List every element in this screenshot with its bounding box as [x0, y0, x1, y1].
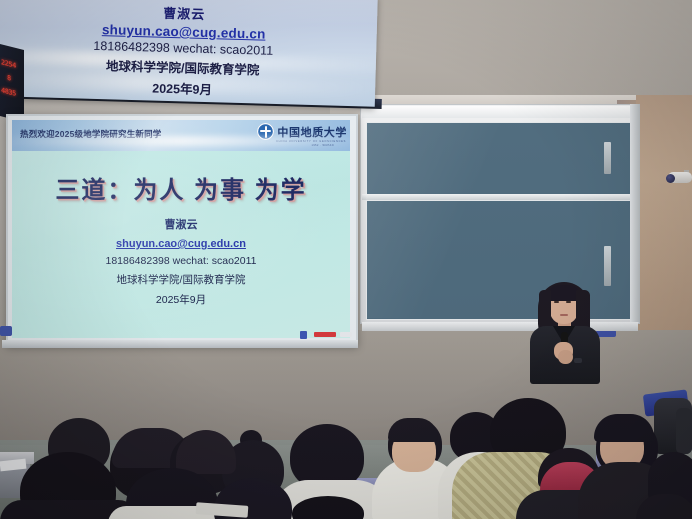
- university-logo: 中国地质大学: [257, 123, 347, 140]
- tray-marker-box: [314, 332, 336, 337]
- chalk-tray-items: [300, 330, 358, 342]
- university-name-en2: 1952 · WUHAN: [312, 144, 334, 147]
- wristwatch: [574, 358, 582, 363]
- led-line-2: 8: [7, 74, 11, 83]
- black-backpack-side: [676, 408, 692, 454]
- security-camera-icon: [662, 170, 692, 186]
- slide-department: 地球科学学院/国际教育学院: [12, 272, 350, 287]
- led-clock-display: 2254 8 4835: [0, 44, 24, 122]
- university-emblem-icon: [257, 123, 274, 140]
- led-line-1: 2254: [1, 58, 16, 70]
- slide-contact: 18186482398 wechat: scao2011: [12, 255, 350, 267]
- tray-chalk: [340, 332, 352, 337]
- presenter-figure: [520, 282, 608, 382]
- projection-screen-frame: 热烈欢迎2025级地学院研究生新同学 中国地质大学 CHINA UNIVERSI…: [6, 114, 358, 346]
- left-ledge-object: [0, 326, 12, 336]
- slide-title: 三道：为人 为事 为学: [12, 170, 350, 205]
- slide-date: 2025年9月: [12, 292, 350, 307]
- audience-hair: [594, 414, 654, 442]
- upper-projection-screen: 曹淑云 shuyun.cao@cug.edu.cn 18186482398 we…: [0, 0, 378, 107]
- blackboard-right-edge: [630, 104, 640, 322]
- slide-body: 曹淑云 shuyun.cao@cug.edu.cn 18186482398 we…: [12, 216, 350, 307]
- slide-email: shuyun.cao@cug.edu.cn: [12, 238, 350, 250]
- tray-eraser: [300, 331, 307, 339]
- slide-banner: 热烈欢迎2025级地学院研究生新同学 中国地质大学 CHINA UNIVERSI…: [12, 120, 350, 151]
- blackboard-clip-upper: [604, 142, 611, 174]
- slide-banner-title: 热烈欢迎2025级地学院研究生新同学: [20, 128, 162, 140]
- blackboard-clip-lower: [604, 246, 611, 286]
- audience-hair: [388, 418, 438, 442]
- university-name-cn: 中国地质大学: [277, 124, 347, 140]
- lecture-hall-photo: 曹淑云 shuyun.cao@cug.edu.cn 18186482398 we…: [0, 0, 692, 519]
- projection-screen: 热烈欢迎2025级地学院研究生新同学 中国地质大学 CHINA UNIVERSI…: [12, 120, 350, 338]
- upper-screen-text: 曹淑云 shuyun.cao@cug.edu.cn 18186482398 we…: [0, 0, 377, 103]
- blackboard-top-light: [362, 106, 636, 118]
- university-name-en: CHINA UNIVERSITY OF GEOSCIENCES: [276, 140, 346, 143]
- led-line-3: 4835: [1, 86, 16, 98]
- blackboard-panel-upper: [366, 122, 634, 196]
- slide-presenter: 曹淑云: [12, 216, 350, 232]
